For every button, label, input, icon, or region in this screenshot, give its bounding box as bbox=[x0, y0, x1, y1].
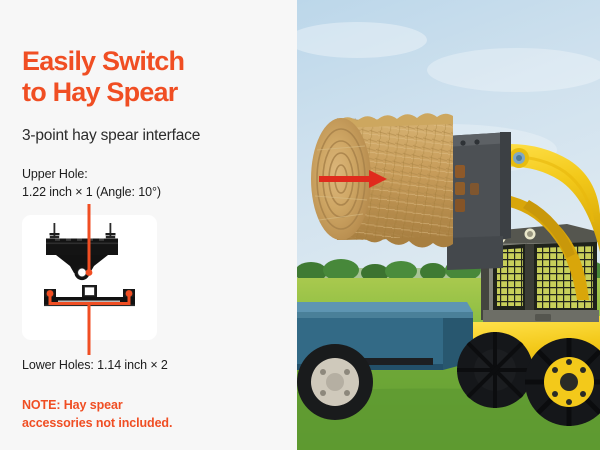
headline-line-1: Easily Switch bbox=[22, 46, 287, 77]
note-line-2: accessories not included. bbox=[22, 414, 252, 432]
photo-illustration bbox=[297, 0, 600, 450]
headline-line-2: to Hay Spear bbox=[22, 77, 287, 108]
left-info-panel: Easily Switch to Hay Spear 3-point hay s… bbox=[0, 0, 297, 450]
upper-hole-title: Upper Hole: bbox=[22, 165, 287, 183]
subtitle: 3-point hay spear interface bbox=[22, 127, 287, 145]
note-line-1: NOTE: Hay spear bbox=[22, 396, 252, 414]
upper-hole-value: 1.22 inch × 1 (Angle: 10°) bbox=[22, 183, 287, 201]
upper-hole-spec: Upper Hole: 1.22 inch × 1 (Angle: 10°) bbox=[22, 165, 287, 201]
note-text: NOTE: Hay spear accessories not included… bbox=[22, 396, 252, 432]
mount-diagram-illustration bbox=[22, 215, 157, 340]
lower-holes-spec: Lower Holes: 1.14 inch × 2 bbox=[22, 358, 287, 372]
hay-spear-attachment-plate bbox=[445, 132, 511, 270]
product-feature-banner: Easily Switch to Hay Spear 3-point hay s… bbox=[0, 0, 600, 450]
lower-bar-group bbox=[44, 285, 135, 306]
mount-diagram-card bbox=[22, 215, 157, 340]
page-title: Easily Switch to Hay Spear bbox=[22, 46, 287, 108]
upper-bracket-group bbox=[46, 223, 118, 280]
product-photo bbox=[297, 0, 600, 450]
